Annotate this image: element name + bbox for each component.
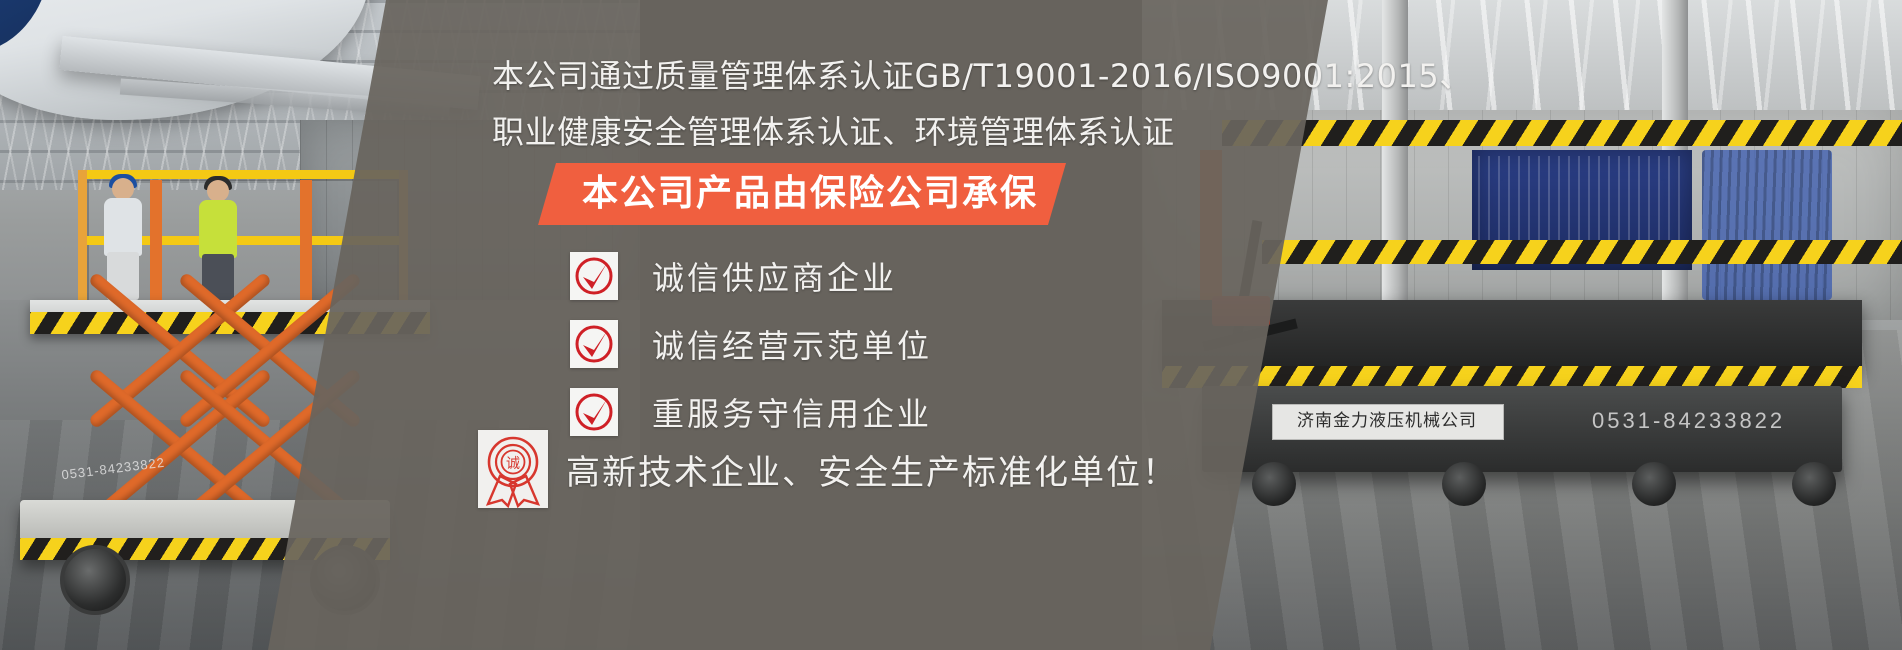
aircraft-nose-livery bbox=[0, 0, 50, 54]
worker-head bbox=[207, 180, 229, 202]
red-check-circle-icon bbox=[570, 388, 618, 436]
cart-wheel-4 bbox=[1792, 462, 1836, 506]
worker-uniform bbox=[104, 198, 142, 256]
footer-row: 诚 高新技术企业、安全生产标准化单位！ bbox=[478, 430, 1178, 508]
headline-line-2: 职业健康安全管理体系认证、环境管理体系认证 bbox=[492, 104, 1175, 160]
certification-label: 重服务守信用企业 bbox=[652, 389, 932, 435]
worker-hivis-vest bbox=[199, 200, 237, 258]
headline-line-1: 本公司通过质量管理体系认证GB/T19001-2016/ISO9001:2015… bbox=[492, 48, 1472, 104]
cart-phone-marking: 0531-84233822 bbox=[1592, 408, 1785, 434]
hanging-blue-cables bbox=[1702, 150, 1832, 300]
certification-list: 诚信供应商企业 诚信经营示范单位 bbox=[570, 242, 932, 446]
certification-label: 诚信供应商企业 bbox=[652, 253, 897, 299]
list-item: 诚信供应商企业 bbox=[570, 242, 932, 310]
banner-content: 本公司通过质量管理体系认证GB/T19001-2016/ISO9001:2015… bbox=[470, 0, 1470, 650]
cart-wheel-3 bbox=[1632, 462, 1676, 506]
list-item: 诚信经营示范单位 bbox=[570, 310, 932, 378]
footer-label: 高新技术企业、安全生产标准化单位！ bbox=[566, 445, 1178, 494]
lift-wheel-left bbox=[60, 545, 130, 615]
lift-upright-a bbox=[150, 180, 162, 310]
promo-banner: 0531-84233822 济南金力液压机械公司 0531-84233822 bbox=[0, 0, 1902, 650]
red-check-circle-icon bbox=[570, 320, 618, 368]
certification-label: 诚信经营示范单位 bbox=[652, 321, 932, 367]
honesty-medal-ribbon-icon: 诚 bbox=[478, 430, 548, 508]
insurance-badge: 本公司产品由保险公司承保 bbox=[538, 163, 1066, 225]
worker-right bbox=[195, 180, 241, 300]
medal-char: 诚 bbox=[506, 456, 520, 472]
lift-rail-post-left bbox=[78, 170, 87, 315]
worker-head bbox=[112, 178, 134, 200]
lift-upright-b bbox=[300, 180, 312, 310]
red-check-circle-icon bbox=[570, 252, 618, 300]
